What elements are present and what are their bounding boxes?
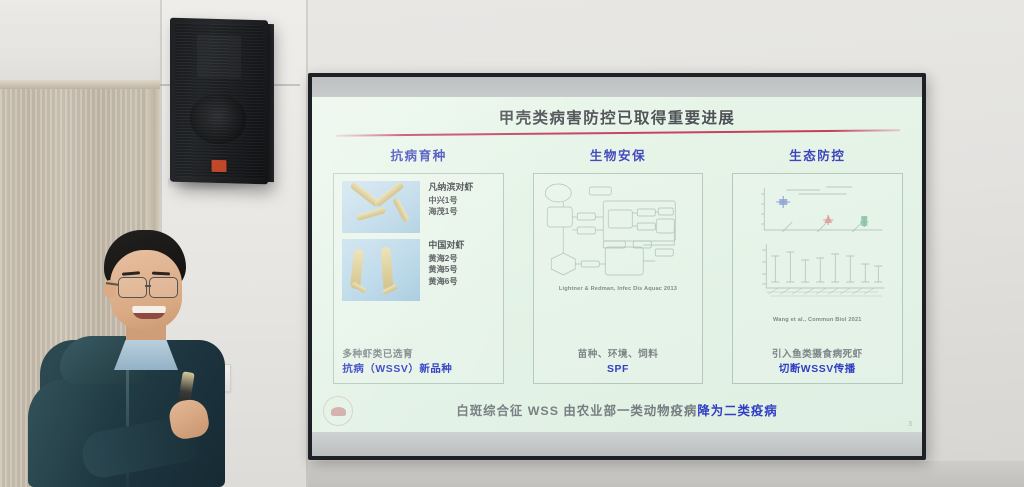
panel-caption: 苗种、环境、饲料 SPF [542, 344, 695, 378]
slide-columns: 抗病育种 凡纳滨对虾 中兴1号 [326, 145, 910, 384]
column-heading: 生物安保 [590, 145, 646, 164]
shrimp-photo-vannamei [342, 181, 420, 233]
column-heading: 抗病育种 [390, 145, 446, 164]
shrimp-photo-chinensis [342, 239, 420, 301]
eyeglasses-bridge [145, 285, 151, 287]
figure-citation: Lightner & Redman, Infec Dis Aquac 2013 [542, 286, 695, 292]
slide-canvas: 甲壳类病害防控已取得重要进展 抗病育种 [312, 97, 922, 432]
breed-strain: 黄海6号 [428, 276, 464, 288]
column-ecological-control: 生态防控 [725, 145, 910, 384]
eyeglasses-left-lens [118, 277, 147, 298]
presentation-photo: 甲壳类病害防控已取得重要进展 抗病育种 [0, 0, 1024, 487]
wall-speaker [170, 18, 268, 185]
presenter-smile [132, 306, 166, 319]
breed-row: 中国对虾 黄海2号 黄海5号 黄海6号 [342, 239, 495, 301]
breed-strain: 黄海2号 [428, 253, 464, 265]
breeding-panel: 凡纳滨对虾 中兴1号 海茂1号 [333, 173, 504, 384]
slide-page-number: 3 [908, 421, 912, 428]
speaker-brand-badge [212, 160, 227, 172]
breed-species-name: 凡纳滨对虾 [428, 181, 473, 194]
presenter-teeth [132, 306, 166, 313]
logo-mark [331, 407, 346, 416]
slide-title: 甲壳类病害防控已取得重要进展 [312, 106, 922, 128]
column-biosecurity: 生物安保 [525, 145, 710, 384]
caption-gray: 多种虾类已选育 [342, 348, 495, 362]
caption-highlight: 切断WSSV传播 [741, 362, 894, 378]
door-header-trim [0, 80, 160, 89]
panel-caption: 引入鱼类摄食病死虾 切断WSSV传播 [741, 344, 894, 378]
projection-screen[interactable]: 甲壳类病害防控已取得重要进展 抗病育种 [308, 73, 926, 460]
caption-gray: 苗种、环境、饲料 [542, 348, 695, 362]
ecological-panel: Wang et al., Commun Biol 2021 引入鱼类摄食病死虾 … [732, 173, 903, 384]
ecological-figure [741, 182, 894, 310]
speaker-woofer [190, 94, 247, 145]
breed-strain: 海茂1号 [428, 206, 473, 218]
figure-citation: Wang et al., Commun Biol 2021 [741, 317, 894, 323]
caption-gray: 引入鱼类摄食病死虾 [741, 348, 894, 362]
screen-top-band [312, 77, 922, 97]
biosecurity-panel: Lightner & Redman, Infec Dis Aquac 2013 … [533, 173, 704, 384]
breed-strain: 黄海5号 [428, 264, 464, 276]
breed-row: 凡纳滨对虾 中兴1号 海茂1号 [342, 181, 495, 233]
column-breeding: 抗病育种 凡纳滨对虾 中兴1号 [326, 145, 511, 384]
presenter [18, 228, 248, 487]
slide-bottom-statement: 白斑综合征 WSS 由农业部一类动物疫病降为二类疫病 [312, 401, 922, 420]
biosecurity-flowchart [542, 183, 695, 279]
speaker-tweeter [197, 35, 240, 79]
bottom-text-gray: 白斑综合征 WSS 由农业部一类动物疫病 [456, 404, 697, 418]
caption-highlight: SPF [542, 362, 695, 378]
breed-labels: 中国对虾 黄海2号 黄海5号 黄海6号 [428, 239, 464, 288]
bottom-text-highlight: 降为二类疫病 [697, 404, 777, 418]
screen-bottom-band [312, 432, 922, 456]
flowchart-svg [542, 183, 695, 279]
institution-logo [323, 396, 353, 426]
eyeglasses-right-lens [149, 277, 178, 298]
breed-labels: 凡纳滨对虾 中兴1号 海茂1号 [428, 181, 473, 218]
caption-highlight: 抗病（WSSV）新品种 [342, 362, 495, 378]
breed-strain: 中兴1号 [428, 195, 473, 207]
column-heading: 生态防控 [789, 145, 845, 164]
title-divider-rule [336, 129, 900, 136]
panel-caption: 多种虾类已选育 抗病（WSSV）新品种 [342, 344, 495, 378]
scientific-plot-svg [741, 182, 894, 310]
breed-species-name: 中国对虾 [428, 239, 464, 252]
